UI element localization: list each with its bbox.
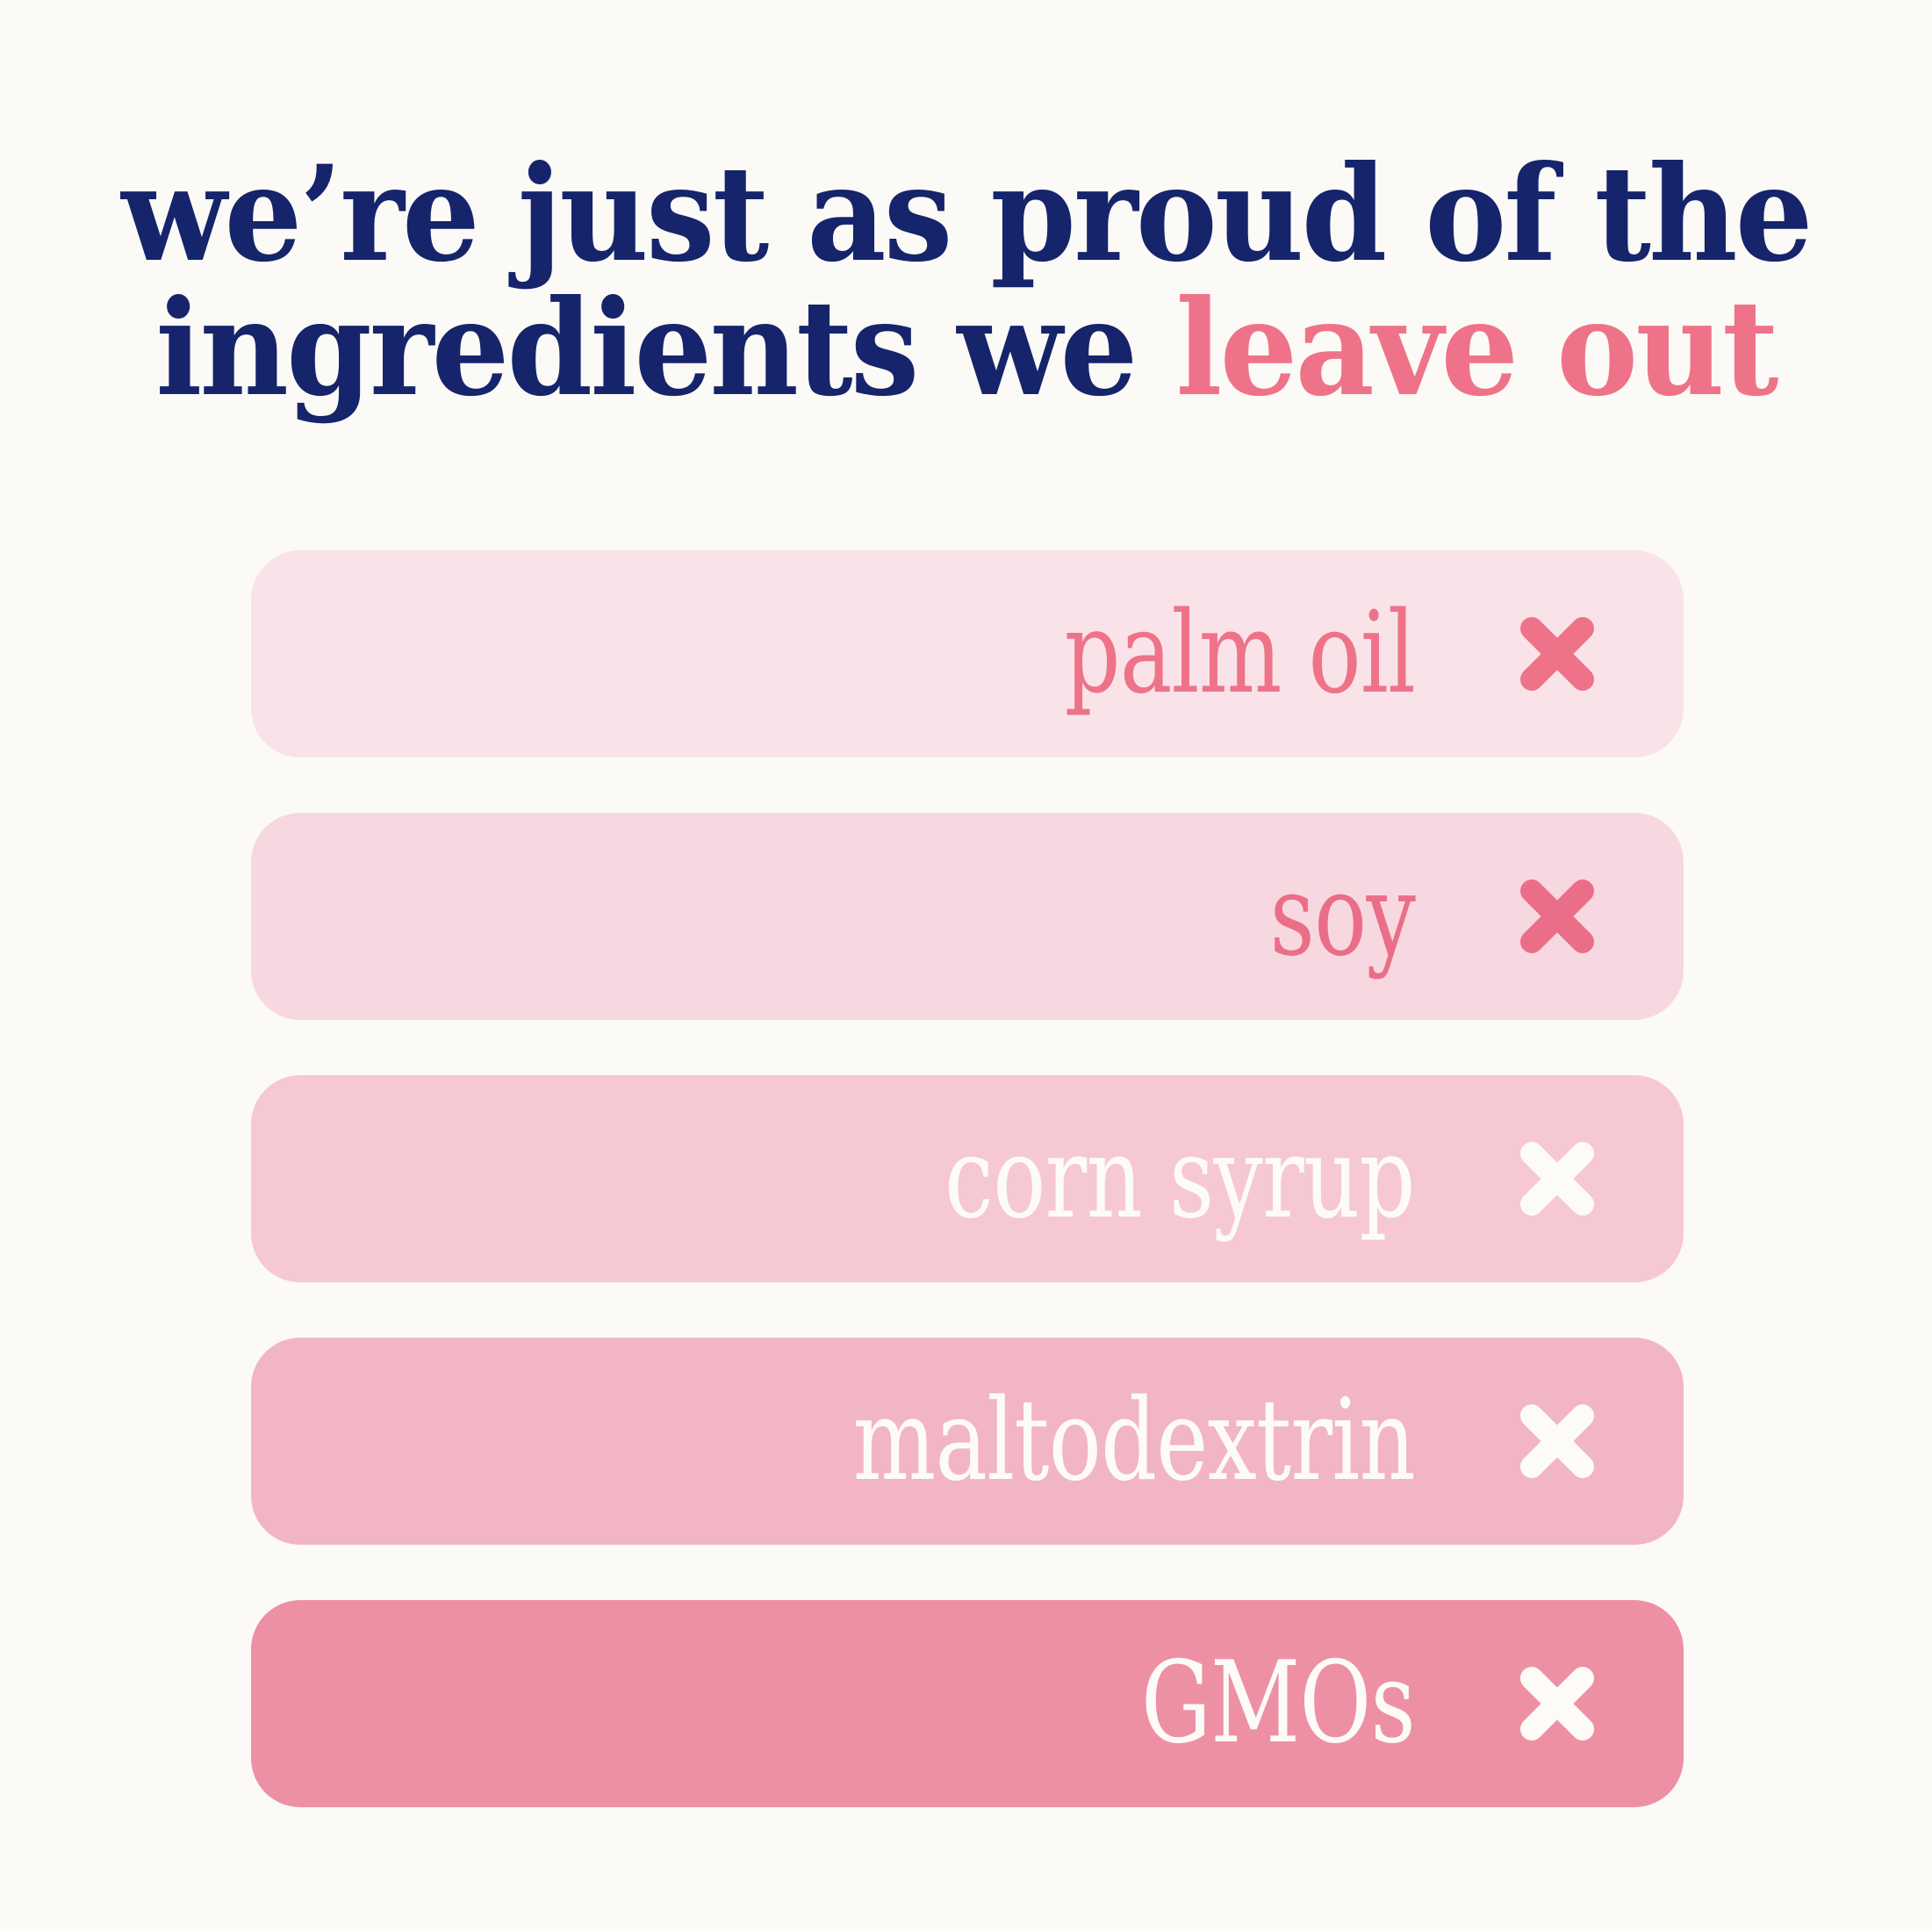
excluded-ingredients-list: palm oilsoycorn syrupmaltodextrinGMOs [251, 550, 1684, 1807]
page-title: we’re just as proud of the ingredients w… [68, 147, 1864, 416]
ingredient-label: palm oil [1064, 598, 1415, 710]
headline-line-2-prefix: ingredients we [155, 271, 1175, 426]
x-mark-icon [1512, 608, 1603, 700]
headline-line-1: we’re just as proud of the [68, 147, 1864, 282]
ingredient-pill: corn syrup [251, 1075, 1684, 1282]
ingredient-label: maltodextrin [853, 1385, 1415, 1497]
ingredient-pill: GMOs [251, 1600, 1684, 1807]
x-mark-icon [1512, 1396, 1603, 1487]
ingredient-pill: palm oil [251, 550, 1684, 757]
x-mark-icon [1512, 1658, 1603, 1749]
ingredient-pill: soy [251, 813, 1684, 1020]
promo-graphic: we’re just as proud of the ingredients w… [0, 0, 1932, 1931]
headline-line-2: ingredients we leave out [68, 282, 1864, 416]
x-mark-icon [1512, 1133, 1603, 1224]
headline-accent-text: leave out [1175, 271, 1776, 426]
ingredient-label: corn syrup [944, 1123, 1415, 1235]
ingredient-pill: maltodextrin [251, 1338, 1684, 1545]
ingredient-label: soy [1270, 860, 1415, 973]
ingredient-label: GMOs [1141, 1647, 1415, 1760]
x-mark-icon [1512, 871, 1603, 962]
